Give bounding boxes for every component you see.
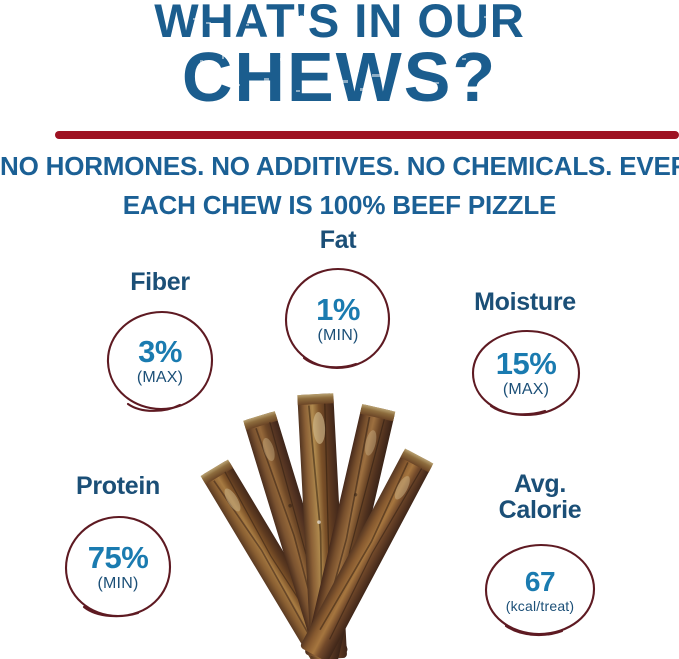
nutrient-moisture-readout: 15% (MAX) (469, 328, 583, 418)
nutrient-fat-value: 1% (316, 294, 360, 325)
subtitle-beef-pizzle: EACH CHEW IS 100% BEEF PIZZLE (0, 192, 679, 218)
nutrient-avg-calorie-label: Avg. Calorie (440, 472, 640, 524)
nutrient-fiber-readout: 3% (MAX) (104, 308, 216, 414)
nutrient-fiber-value: 3% (138, 336, 182, 367)
nutrient-protein: Protein 75% (MIN) (28, 474, 208, 634)
nutrient-moisture-circle: 15% (MAX) (469, 328, 583, 418)
nutrient-avg-calorie: Avg. Calorie 67 (kcal/treat) (440, 472, 640, 652)
nutrient-avg-calorie-value: 67 (525, 568, 555, 596)
nutrient-protein-circle: 75% (MIN) (62, 514, 174, 620)
nutrient-fiber-circle: 3% (MAX) (104, 308, 216, 414)
nutrient-protein-label: Protein (28, 474, 208, 500)
nutrient-protein-unit: (MIN) (98, 576, 139, 592)
nutrient-moisture-value: 15% (496, 348, 557, 379)
infographic-canvas: WHAT'S IN OUR CHEWS? NO (0, 0, 679, 659)
nutrient-protein-value: 75% (88, 542, 149, 573)
nutrient-avg-calorie-circle: 67 (kcal/treat) (482, 542, 598, 638)
nutrient-fat-readout: 1% (MIN) (282, 266, 394, 372)
nutrient-avg-calorie-unit: (kcal/treat) (506, 599, 575, 613)
nutrient-fat: Fat 1% (MIN) (248, 228, 428, 378)
nutrient-avg-calorie-readout: 67 (kcal/treat) (482, 542, 598, 638)
nutrient-moisture-label: Moisture (435, 290, 615, 316)
nutrient-fiber-unit: (MAX) (137, 370, 183, 386)
nutrient-moisture-unit: (MAX) (503, 382, 549, 398)
nutrient-fat-circle: 1% (MIN) (282, 266, 394, 372)
nutrient-fat-unit: (MIN) (318, 328, 359, 344)
red-divider-rule (55, 131, 679, 139)
nutrient-fiber-label: Fiber (70, 270, 250, 296)
nutrient-moisture: Moisture 15% (MAX) (435, 290, 615, 440)
page-title-line-2: CHEWS? (0, 42, 679, 112)
nutrient-protein-readout: 75% (MIN) (62, 514, 174, 620)
nutrient-fiber: Fiber 3% (MAX) (70, 270, 250, 420)
subtitle-no-hormones: NO HORMONES. NO ADDITIVES. NO CHEMICALS.… (0, 153, 679, 179)
nutrient-fat-label: Fat (248, 228, 428, 254)
